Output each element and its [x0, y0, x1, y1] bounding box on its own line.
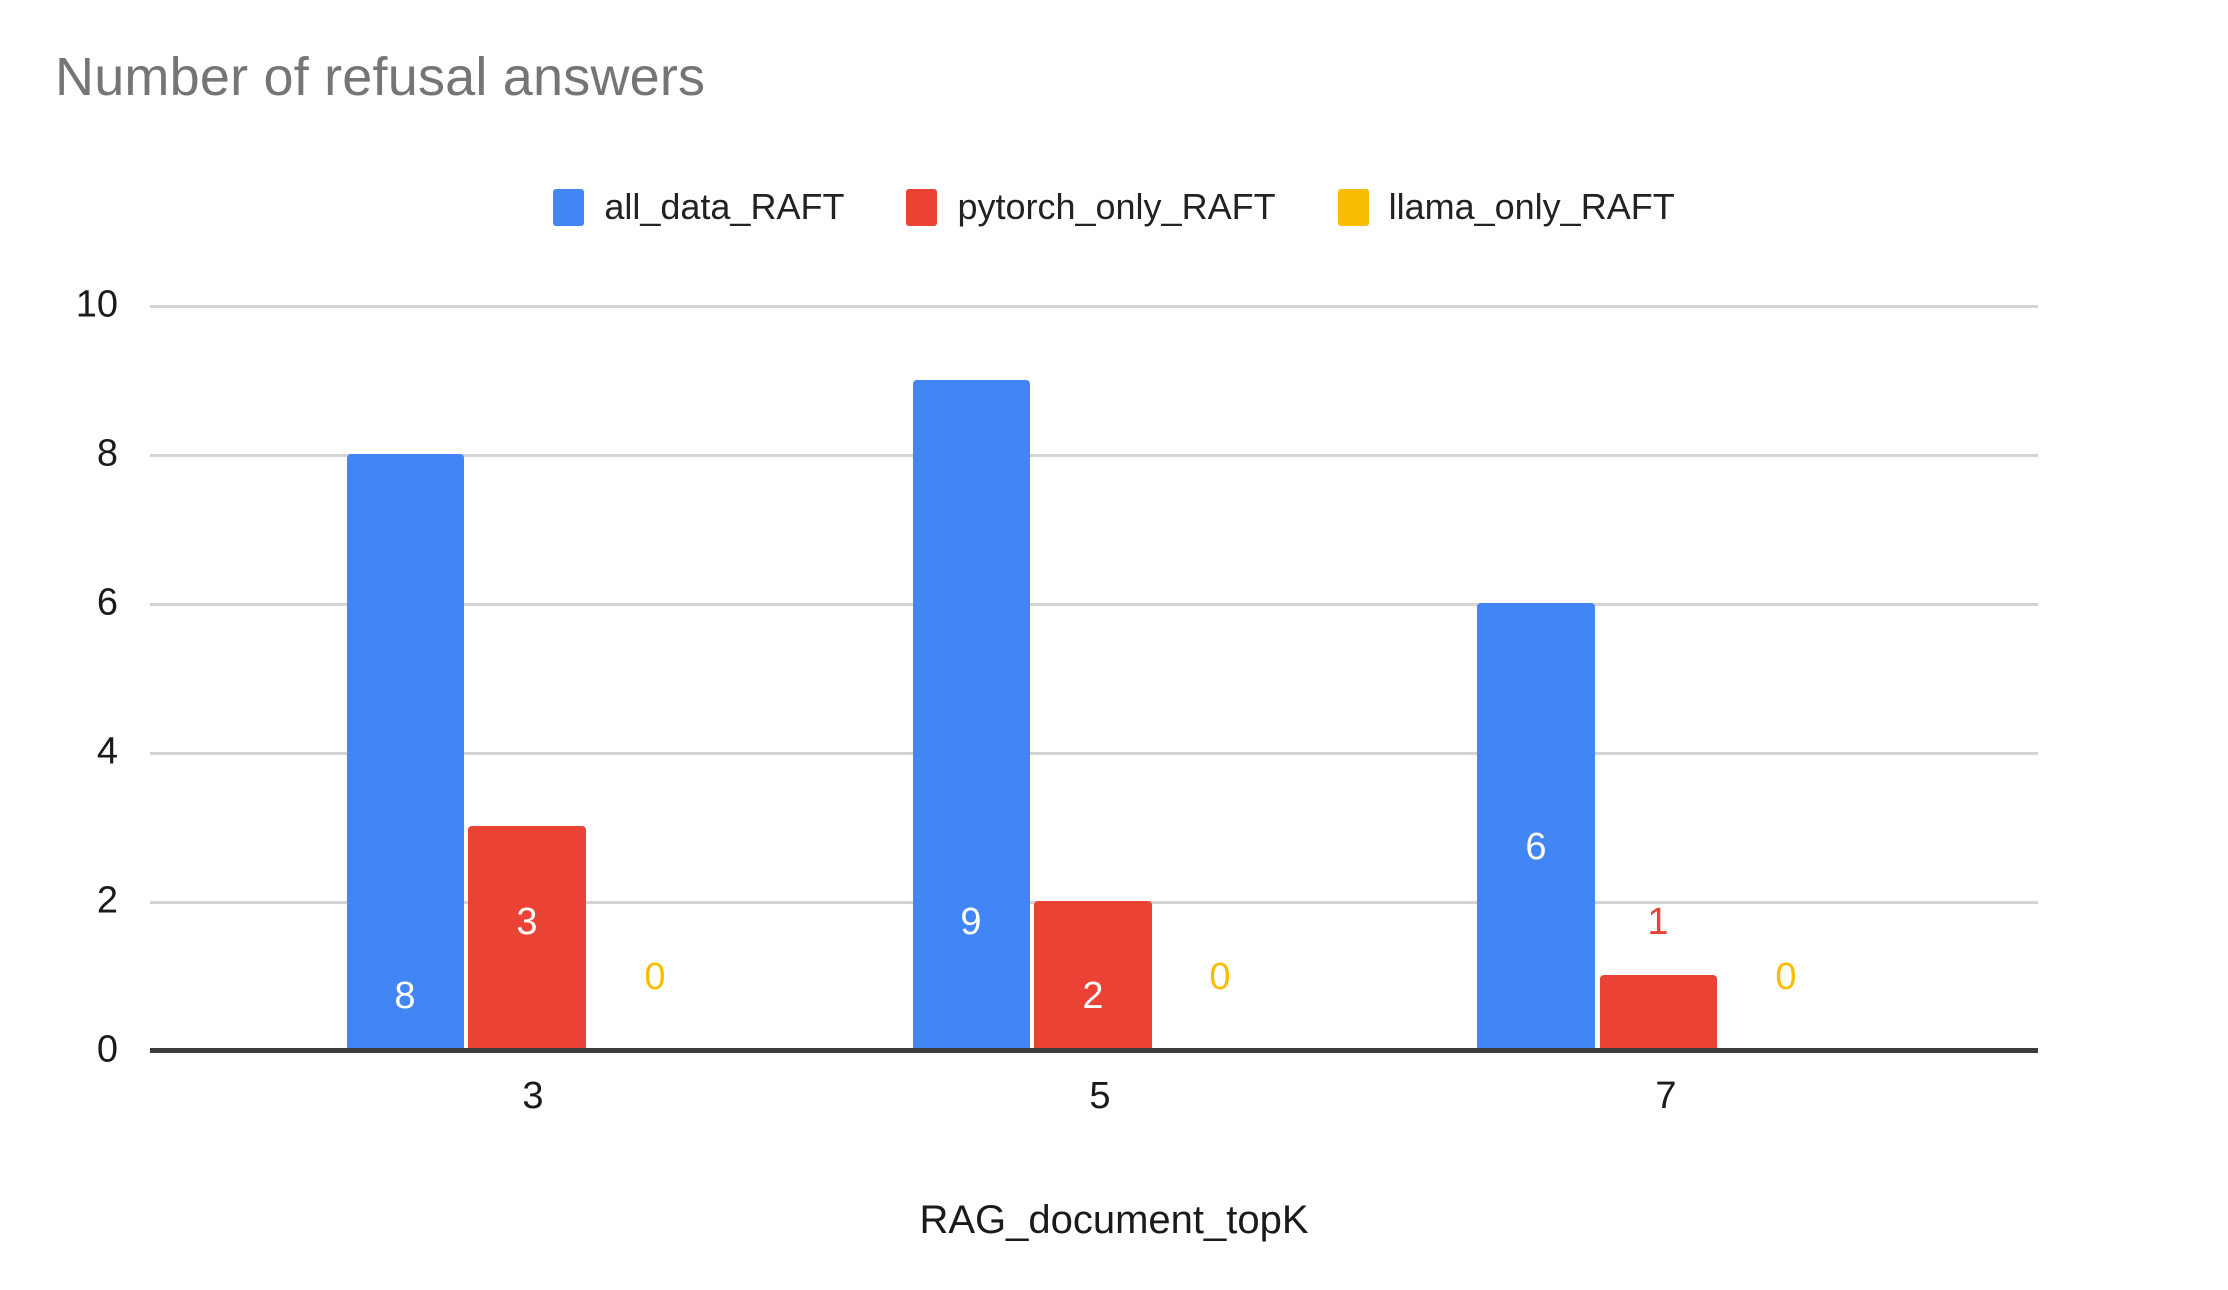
bar-all-data-raft-5[interactable] — [913, 380, 1030, 1050]
bar-label-all-data-raft-7: 6 — [1525, 826, 1546, 869]
legend-label-llama-only-raft: llama_only_RAFT — [1389, 186, 1675, 228]
bar-label-llama-only-raft-3: 0 — [644, 956, 665, 999]
legend-swatch-blue-icon — [553, 189, 584, 226]
y-axis-tick-0: 0 — [0, 1029, 118, 1072]
bar-all-data-raft-3[interactable] — [347, 454, 464, 1050]
legend-item-all-data-raft[interactable]: all_data_RAFT — [553, 186, 844, 228]
y-axis-tick-8: 8 — [0, 433, 118, 476]
chart-canvas: Number of refusal answers all_data_RAFT … — [0, 0, 2228, 1290]
legend-swatch-yellow-icon — [1338, 189, 1369, 226]
y-axis-tick-10: 10 — [0, 284, 118, 327]
chart-legend: all_data_RAFT pytorch_only_RAFT llama_on… — [0, 186, 2228, 228]
bar-label-pytorch-only-raft-7: 1 — [1647, 901, 1668, 944]
legend-label-pytorch-only-raft: pytorch_only_RAFT — [957, 186, 1275, 228]
legend-label-all-data-raft: all_data_RAFT — [604, 186, 844, 228]
plot-area: 8 3 0 9 2 0 6 1 0 — [150, 305, 2038, 1050]
y-axis-tick-2: 2 — [0, 880, 118, 923]
legend-item-pytorch-only-raft[interactable]: pytorch_only_RAFT — [906, 186, 1275, 228]
x-axis-line — [150, 1048, 2038, 1053]
bar-pytorch-only-raft-7[interactable] — [1600, 975, 1717, 1050]
bar-label-llama-only-raft-7: 0 — [1775, 956, 1796, 999]
x-axis-title: RAG_document_topK — [0, 1198, 2228, 1243]
y-axis-tick-4: 4 — [0, 731, 118, 774]
bar-label-pytorch-only-raft-3: 3 — [516, 901, 537, 944]
y-axis-tick-6: 6 — [0, 582, 118, 625]
chart-title: Number of refusal answers — [55, 47, 705, 107]
bar-label-llama-only-raft-5: 0 — [1209, 956, 1230, 999]
bar-label-pytorch-only-raft-5: 2 — [1082, 975, 1103, 1018]
bar-label-all-data-raft-5: 9 — [960, 901, 981, 944]
legend-swatch-red-icon — [906, 189, 937, 226]
x-axis-tick-5: 5 — [1089, 1075, 1110, 1118]
legend-item-llama-only-raft[interactable]: llama_only_RAFT — [1338, 186, 1675, 228]
x-axis-tick-7: 7 — [1655, 1075, 1676, 1118]
bar-label-all-data-raft-3: 8 — [394, 975, 415, 1018]
x-axis-tick-3: 3 — [522, 1075, 543, 1118]
gridline-10 — [150, 305, 2038, 308]
